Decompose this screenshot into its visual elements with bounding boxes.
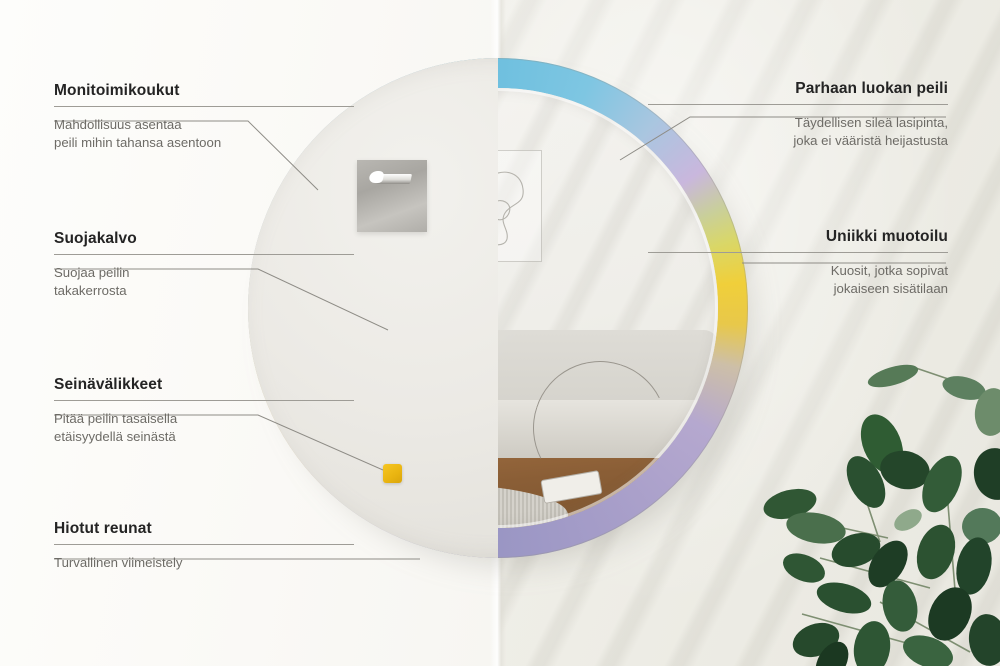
infographic-canvas: Monitoimikoukut Mahdollisuus asentaa pei… — [0, 0, 1000, 666]
feature-desc-line1: Pitää peilin tasaisella — [54, 411, 177, 426]
feature-title: Parhaan luokan peili — [648, 80, 948, 97]
feature-desc-line2: takakerrosta — [54, 283, 127, 298]
feature-title: Uniikki muotoilu — [648, 228, 948, 245]
feature-rule — [54, 106, 354, 107]
hook-plate — [357, 160, 427, 232]
feature-desc-line2: joka ei vääristä heijastusta — [793, 133, 948, 148]
feature-rule — [54, 544, 354, 545]
feature-label-mounting-hooks: Monitoimikoukut Mahdollisuus asentaa pei… — [54, 82, 354, 151]
feature-title: Suojakalvo — [54, 230, 354, 247]
feature-rule — [54, 254, 354, 255]
feature-label-polished-edges: Hiotut reunat Turvallinen viimeistely — [54, 520, 354, 572]
feature-label-best-mirror: Parhaan luokan peili Täydellisen sileä l… — [648, 80, 948, 149]
feature-rule — [648, 252, 948, 253]
leaf-plant-decoration — [760, 352, 1000, 666]
feature-label-protective-film: Suojakalvo Suojaa peilin takakerrosta — [54, 230, 354, 299]
feature-desc-line1: Turvallinen viimeistely — [54, 555, 183, 570]
wall-spacer-chip — [383, 464, 402, 483]
feature-rule — [54, 400, 354, 401]
feature-desc-line1: Täydellisen sileä lasipinta, — [795, 115, 948, 130]
feature-desc-line2: peili mihin tahansa asentoon — [54, 135, 221, 150]
feature-desc-line1: Mahdollisuus asentaa — [54, 117, 182, 132]
feature-title: Monitoimikoukut — [54, 82, 354, 99]
mounting-hook-icon — [374, 174, 412, 184]
feature-title: Seinävälikkeet — [54, 376, 354, 393]
feature-label-unique-design: Uniikki muotoilu Kuosit, jotka sopivat j… — [648, 228, 948, 297]
feature-desc-line1: Suojaa peilin — [54, 265, 130, 280]
feature-desc-line1: Kuosit, jotka sopivat — [831, 263, 948, 278]
feature-title: Hiotut reunat — [54, 520, 354, 537]
feature-desc-line2: etäisyydellä seinästä — [54, 429, 176, 444]
feature-label-wall-spacers: Seinävälikkeet Pitää peilin tasaisella e… — [54, 376, 354, 445]
feature-desc-line2: jokaiseen sisätilaan — [834, 281, 948, 296]
feature-rule — [648, 104, 948, 105]
